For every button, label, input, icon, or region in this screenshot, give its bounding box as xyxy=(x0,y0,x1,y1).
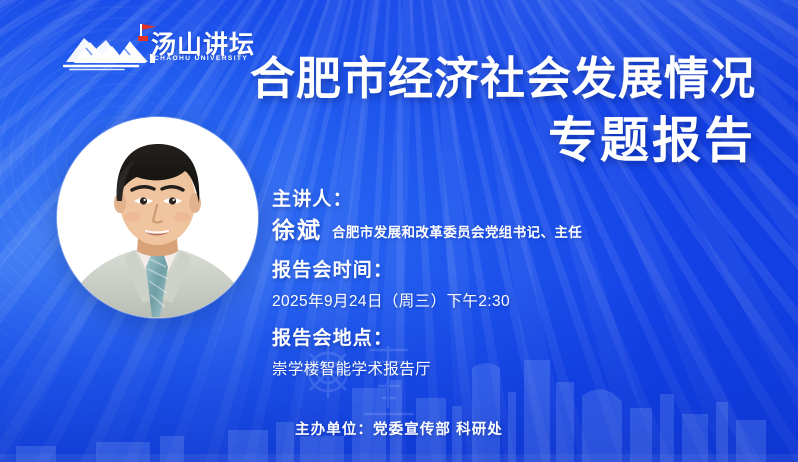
speaker-title: 合肥市发展和改革委员会党组书记、主任 xyxy=(332,221,582,243)
organizer-footer: 主办单位：党委宣传部 科研处 xyxy=(0,418,798,439)
lecture-poster: 汤山讲坛 CHAOHU UNIVERSITY 合肥市经济社会发展情况 专题报告 xyxy=(0,0,798,462)
place-label: 报告会地点： xyxy=(272,327,702,351)
speaker-name: 徐斌 xyxy=(272,218,322,243)
speaker-row: 徐斌 合肥市发展和改革委员会党组书记、主任 xyxy=(272,218,702,243)
headline-line-2: 专题报告 xyxy=(250,116,756,167)
speaker-label: 主讲人： xyxy=(272,188,702,212)
time-value: 2025年9月24日（周三）下午2:30 xyxy=(272,289,702,311)
lecture-details: 主讲人： 徐斌 合肥市发展和改革委员会党组书记、主任 报告会时间： 2025年9… xyxy=(272,188,702,379)
place-value: 崇学楼智能学术报告厅 xyxy=(272,357,702,379)
speaker-photo xyxy=(57,117,258,318)
logo-subtitle: CHAOHU UNIVERSITY xyxy=(154,55,248,62)
brand-logo[interactable]: 汤山讲坛 CHAOHU UNIVERSITY xyxy=(62,22,242,80)
headline-line-1: 合肥市经济社会发展情况 xyxy=(250,56,756,103)
poster-headline: 合肥市经济社会发展情况 专题报告 xyxy=(250,56,756,167)
time-label: 报告会时间： xyxy=(272,259,702,283)
speaker-portrait-avatar xyxy=(57,117,258,318)
